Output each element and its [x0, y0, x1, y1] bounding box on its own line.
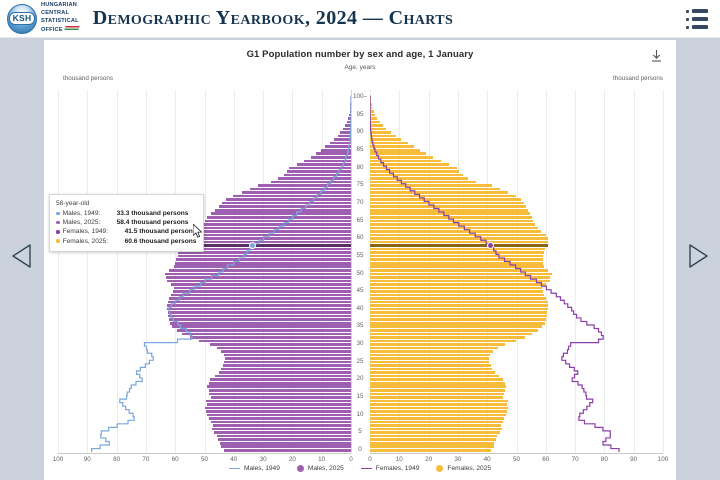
chart-tooltip: 58-year-old Males, 1949: 33.3 thousand p…	[49, 194, 204, 252]
x-axis-tick: 20	[425, 456, 432, 463]
tooltip-row: Males, 1949: 33.3 thousand persons	[56, 210, 196, 217]
y-axis-tick: 50	[350, 270, 370, 277]
x-axis-tick: 70	[142, 456, 149, 463]
tooltip-value: 41.5 thousand persons	[125, 228, 197, 235]
tooltip-row: Males, 2025: 58.4 thousand persons	[56, 219, 196, 226]
y-axis-tick: 10	[350, 411, 370, 418]
ksh-logo-abbr: KSH	[9, 12, 35, 25]
y-axis-tick: 40	[350, 305, 370, 312]
x-axis-tick: 50	[201, 456, 208, 463]
logo-line-2: CENTRAL	[41, 10, 79, 18]
baseline-right	[370, 453, 663, 454]
x-axis-tick: 60	[542, 456, 549, 463]
tooltip-value: 58.4 thousand persons	[117, 219, 189, 226]
logo-line-1: HUNGARIAN	[41, 2, 79, 10]
hungarian-flag-icon	[64, 26, 79, 30]
x-axis-units-right: thousand persons	[613, 75, 663, 82]
tooltip-label: Males, 1949:	[63, 210, 112, 217]
y-axis-tick: 30	[350, 340, 370, 347]
x-axis-tick: 80	[601, 456, 608, 463]
tooltip-value: 33.3 thousand persons	[117, 210, 189, 217]
x-axis-tick: 70	[572, 456, 579, 463]
y-axis-tick: 35	[350, 322, 370, 329]
x-axis-tick: 50	[513, 456, 520, 463]
logo-line-3: STATISTICAL	[41, 18, 79, 26]
x-axis-tick: 20	[289, 456, 296, 463]
ksh-logo-text: HUNGARIAN CENTRAL STATISTICAL OFFICE	[41, 2, 79, 35]
tooltip-bullet-icon	[56, 239, 60, 243]
legend-label: Males, 1949	[244, 465, 280, 472]
chart-slide: G1 Population number by sex and age, 1 J…	[44, 40, 676, 480]
y-axis-tick: 95	[350, 111, 370, 118]
x-axis-tick: 100	[658, 456, 669, 463]
y-axis-tick: 65	[350, 217, 370, 224]
y-axis-tick: 45	[350, 287, 370, 294]
y-axis-tick: 5	[350, 428, 370, 435]
legend-dot-icon	[297, 465, 304, 472]
y-axis-tick: 20	[350, 375, 370, 382]
legend-line-icon	[361, 468, 372, 470]
legend-line-icon	[229, 468, 240, 470]
tooltip-bullet-icon	[56, 230, 60, 234]
app-header: KSH HUNGARIAN CENTRAL STATISTICAL OFFICE…	[0, 0, 720, 38]
y-axis-tick: 60	[350, 234, 370, 241]
tooltip-bullet-icon	[56, 221, 60, 225]
x-axis-tick: 60	[172, 456, 179, 463]
legend-dot-icon	[436, 465, 443, 472]
y-axis-tick: 85	[350, 146, 370, 153]
x-axis-tick: 30	[454, 456, 461, 463]
tooltip-bullet-icon	[56, 212, 60, 216]
y-axis-tick: 75	[350, 181, 370, 188]
plot-area: Age, years 05101520253035404550556065707…	[44, 62, 676, 480]
ksh-logo: KSH HUNGARIAN CENTRAL STATISTICAL OFFICE	[7, 2, 79, 35]
tooltip-label: Males, 2025:	[63, 219, 112, 226]
tooltip-row: Females, 1949: 41.5 thousand persons	[56, 228, 196, 235]
x-axis-tick: 10	[396, 456, 403, 463]
y-axis-tick: 70	[350, 199, 370, 206]
gridline	[663, 90, 664, 453]
pyramid-right-pane	[370, 90, 663, 453]
x-axis-tick: 90	[84, 456, 91, 463]
page-title: Demographic Yearbook, 2024 — Charts	[93, 7, 453, 30]
chart-title: G1 Population number by sex and age, 1 J…	[44, 40, 676, 60]
legend-item-males-2025[interactable]: Males, 2025	[297, 465, 344, 472]
legend-label: Females, 2025	[447, 465, 491, 472]
tooltip-row: Females, 2025: 60.6 thousand persons	[56, 238, 196, 245]
step-line-females-1949	[370, 90, 663, 453]
list-menu-icon[interactable]	[686, 9, 710, 29]
logo-line-4-wrap: OFFICE	[41, 26, 79, 35]
x-axis-tick: 10	[318, 456, 325, 463]
y-axis-tick: 90	[350, 128, 370, 135]
x-axis-tick: 0	[368, 456, 372, 463]
y-axis-tick: 15	[350, 393, 370, 400]
step-line-males-1949	[58, 90, 351, 453]
x-axis-units-left: thousand persons	[63, 75, 113, 82]
tooltip-label: Females, 1949:	[63, 228, 120, 235]
y-axis-tick: 80	[350, 164, 370, 171]
baseline-left	[58, 453, 351, 454]
legend-label: Females, 1949	[376, 465, 420, 472]
tooltip-title: 58-year-old	[56, 200, 196, 207]
pyramid-left-pane	[58, 90, 351, 453]
mouse-cursor-icon	[193, 224, 204, 244]
x-axis-tick: 0	[349, 456, 353, 463]
chart-legend: Males, 1949 Males, 2025 Females, 1949 Fe…	[44, 465, 676, 472]
y-axis-label: Age, years	[344, 64, 375, 71]
y-axis-tick: 25	[350, 358, 370, 365]
download-icon[interactable]	[650, 49, 663, 63]
highlight-marker-males-1949[interactable]	[249, 242, 256, 249]
x-axis-tick: 100	[53, 456, 64, 463]
legend-item-females-2025[interactable]: Females, 2025	[436, 465, 491, 472]
y-axis-tick: 55	[350, 252, 370, 259]
tooltip-value: 60.6 thousand persons	[125, 238, 197, 245]
tooltip-label: Females, 2025:	[63, 238, 120, 245]
y-axis-tick: 0	[350, 446, 370, 453]
legend-item-females-1949[interactable]: Females, 1949	[361, 465, 420, 472]
x-axis-tick: 40	[484, 456, 491, 463]
legend-item-males-1949[interactable]: Males, 1949	[229, 465, 280, 472]
logo-line-4: OFFICE	[41, 27, 63, 33]
x-axis-tick: 30	[260, 456, 267, 463]
x-axis-tick: 90	[630, 456, 637, 463]
legend-label: Males, 2025	[308, 465, 344, 472]
y-axis-tick: 100–	[350, 93, 370, 100]
prev-slide-button[interactable]	[9, 241, 37, 271]
ksh-logo-icon: KSH	[7, 4, 37, 34]
x-axis-tick: 40	[230, 456, 237, 463]
next-slide-button[interactable]	[683, 241, 711, 271]
app-root: KSH HUNGARIAN CENTRAL STATISTICAL OFFICE…	[0, 0, 720, 480]
x-axis-tick: 80	[113, 456, 120, 463]
